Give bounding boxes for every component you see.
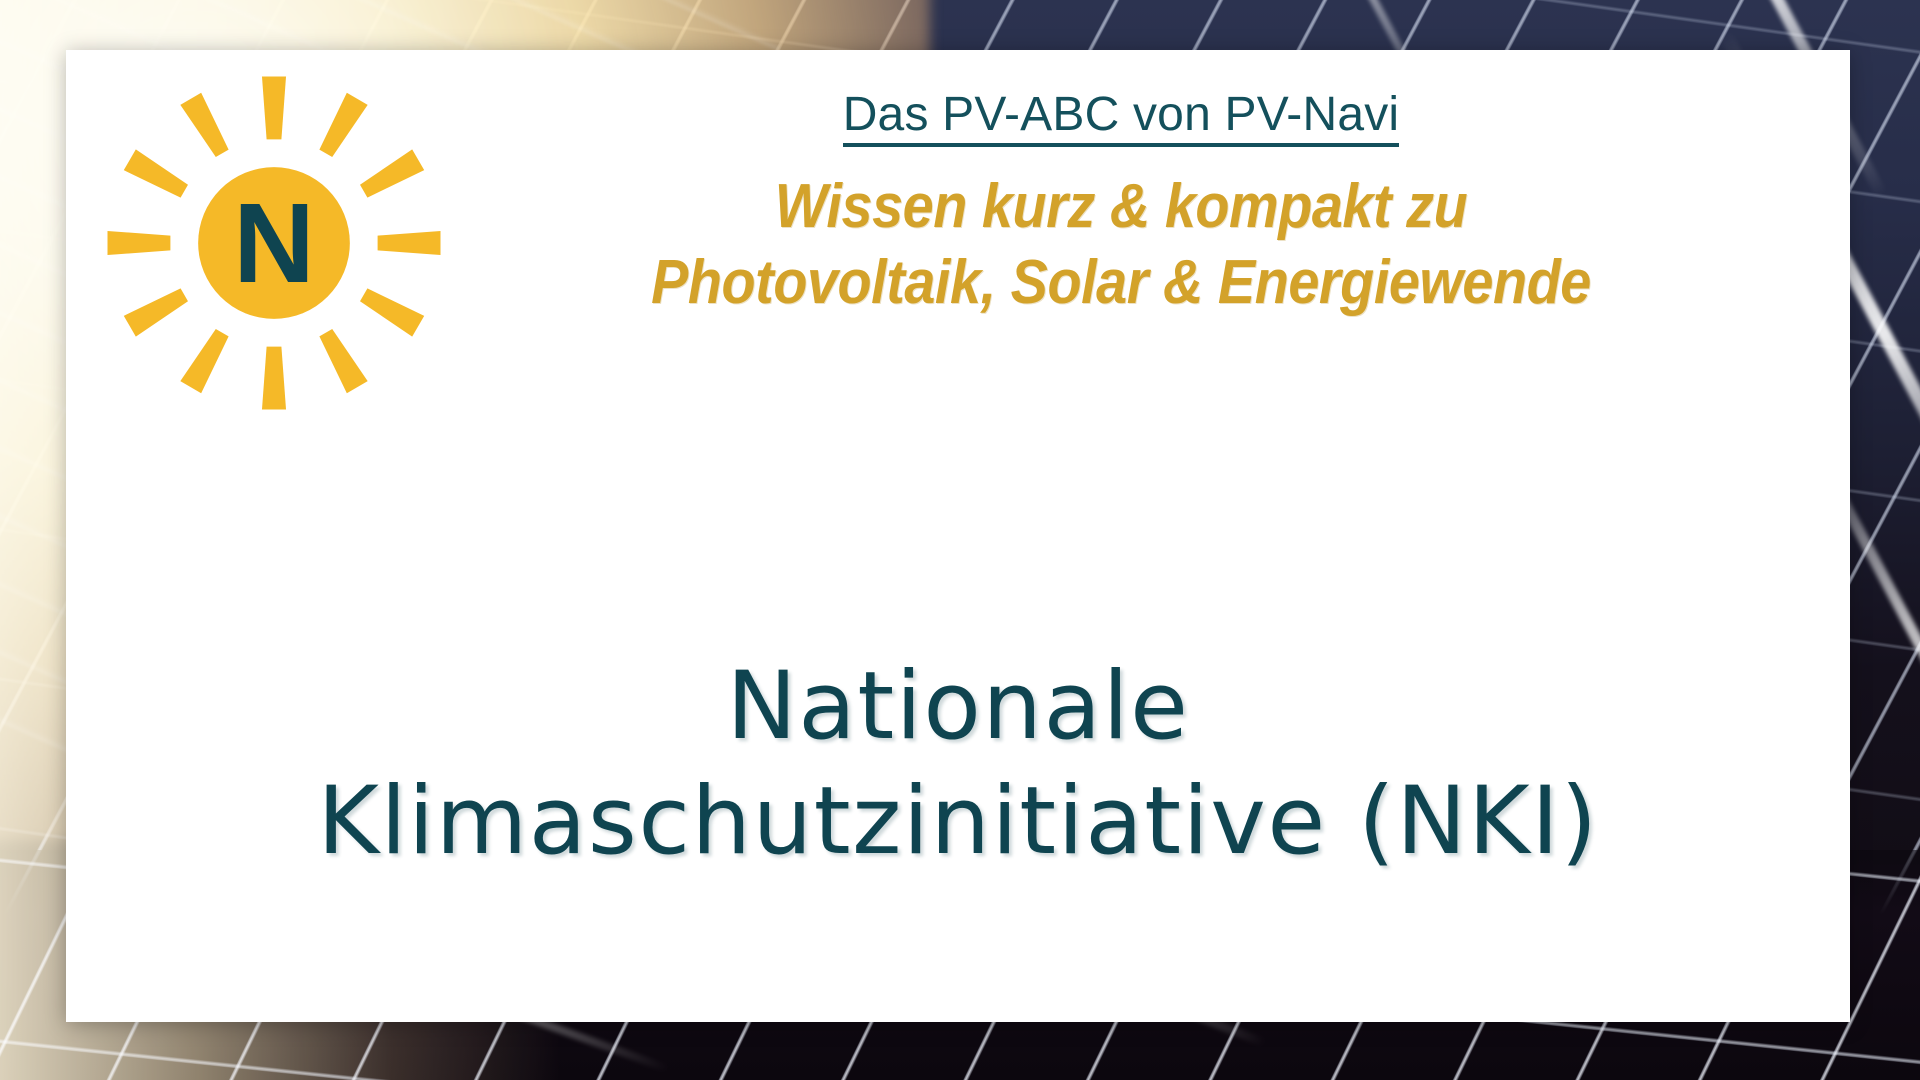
tagline-line-1: Wissen kurz & kompakt zu	[523, 169, 1720, 245]
page-title-line-2: Klimaschutzinitiative (NKI)	[66, 765, 1850, 880]
kicker-heading: Das PV-ABC von PV-Navi	[843, 90, 1400, 147]
content-card: N Das PV-ABC von PV-Navi Wissen kurz & k…	[66, 50, 1850, 1022]
tagline: Wissen kurz & kompakt zu Photovoltaik, S…	[523, 169, 1720, 320]
sun-icon: N	[84, 58, 464, 428]
page-title-line-1: Nationale	[66, 650, 1850, 765]
page-title: Nationale Klimaschutzinitiative (NKI)	[66, 650, 1850, 879]
header-text-block: Das PV-ABC von PV-Navi Wissen kurz & kom…	[456, 90, 1786, 321]
slide-canvas: N Das PV-ABC von PV-Navi Wissen kurz & k…	[0, 0, 1920, 1080]
sun-logo: N	[84, 58, 464, 428]
card-header: N Das PV-ABC von PV-Navi Wissen kurz & k…	[66, 50, 1850, 440]
tagline-line-2: Photovoltaik, Solar & Energiewende	[523, 245, 1720, 321]
logo-letter: N	[233, 180, 315, 306]
main-title-block: Nationale Klimaschutzinitiative (NKI)	[66, 650, 1850, 879]
